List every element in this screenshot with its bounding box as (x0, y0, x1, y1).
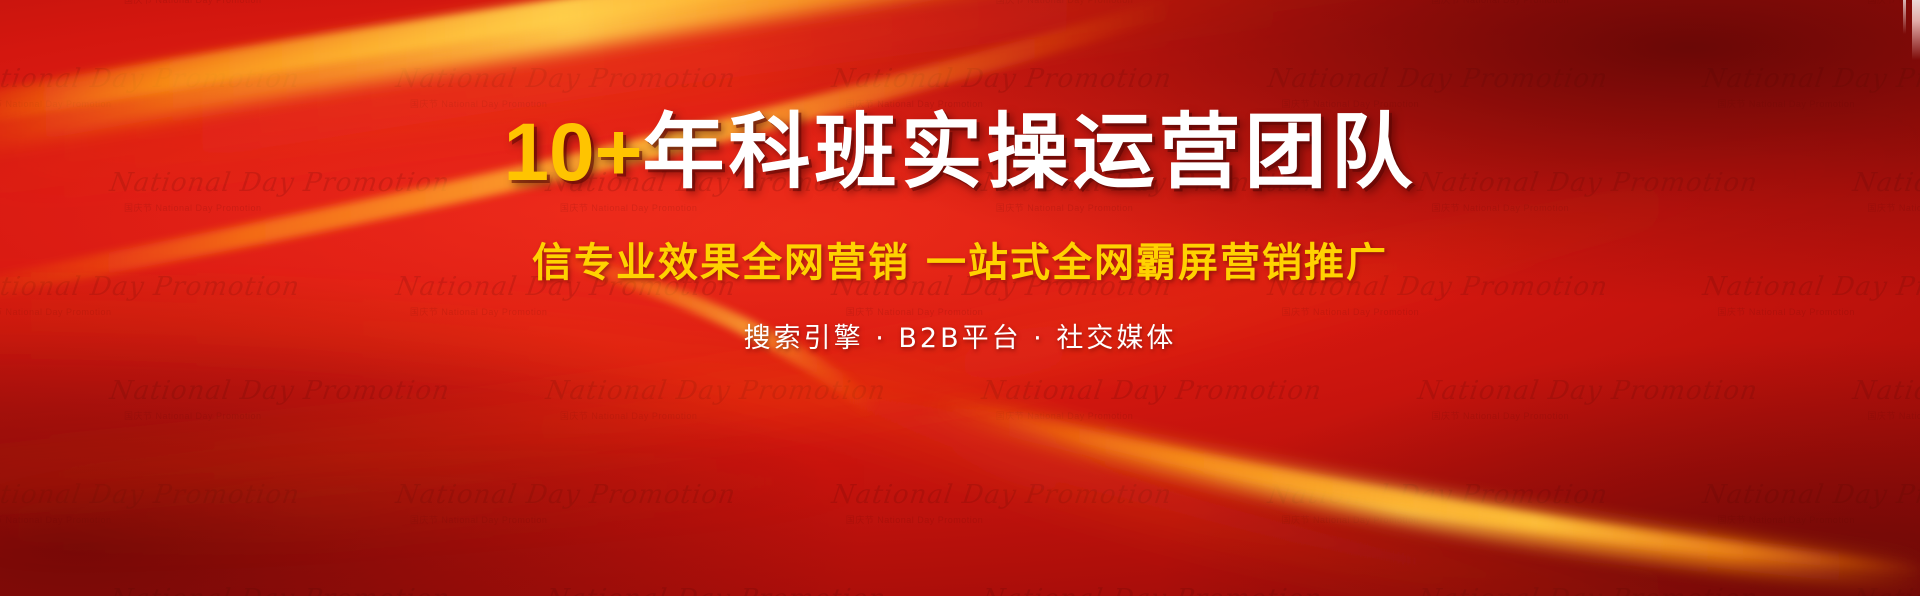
tagline: 搜索引擎 · B2B平台 · 社交媒体 (744, 316, 1177, 355)
headline-number: 10+ (503, 107, 642, 198)
headline-text: 年科班实操运营团队 (643, 105, 1417, 200)
headline: 10+年科班实操运营团队 (503, 112, 1416, 194)
banner-content: 10+年科班实操运营团队 信专业效果全网营销 一站式全网霸屏营销推广 搜索引擎 … (0, 0, 1920, 596)
promo-banner: National Day Promotion国庆节 National Day P… (0, 0, 1920, 596)
subtitle: 信专业效果全网营销 一站式全网霸屏营销推广 (532, 230, 1388, 288)
